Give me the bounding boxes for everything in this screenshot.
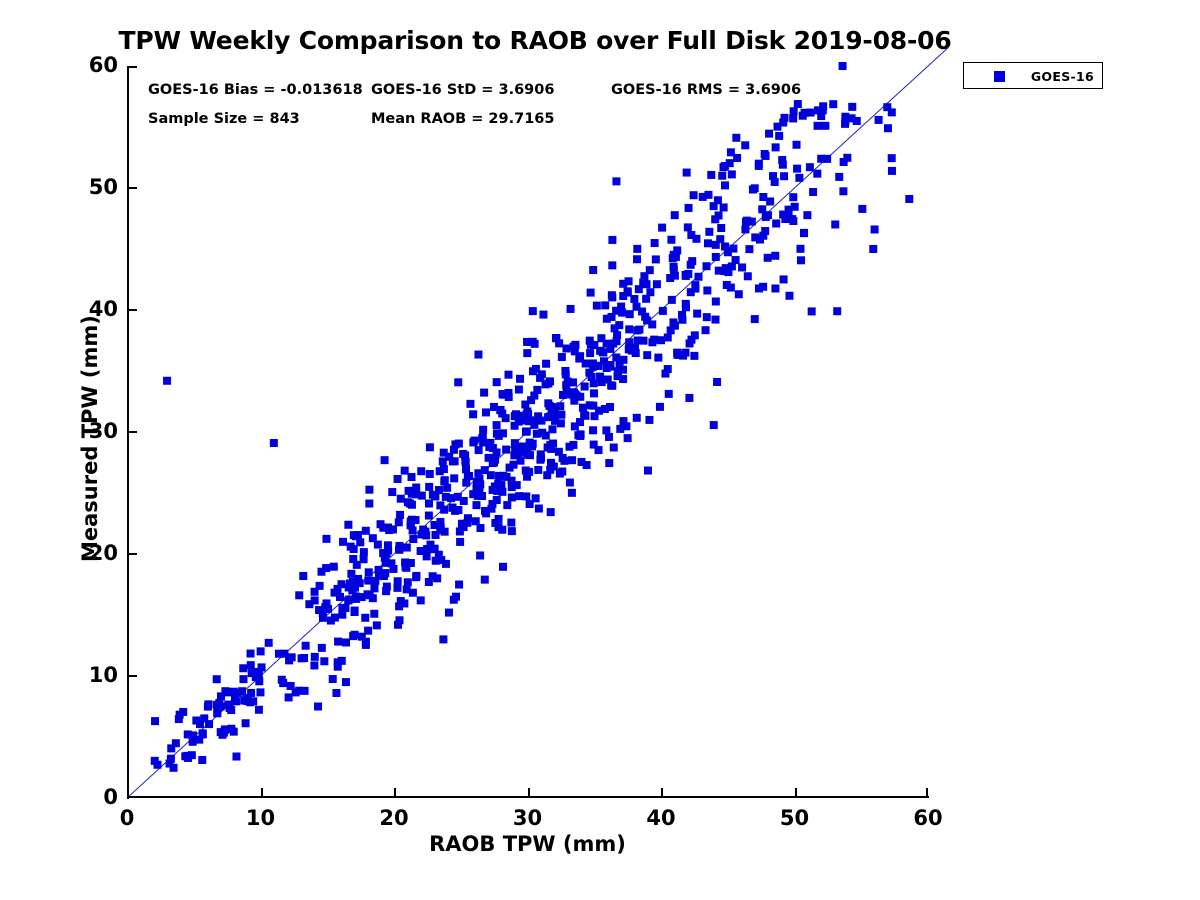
scatter-point [789,217,797,225]
scatter-point [575,355,583,363]
scatter-point [472,501,480,509]
scatter-point [626,310,634,318]
scatter-point [454,378,462,386]
scatter-point [421,528,429,536]
scatter-point [519,417,527,425]
scatter-point [589,426,597,434]
scatter-point [771,285,779,293]
scatter-point [673,246,681,254]
scatter-point [606,403,614,411]
y-tick-0 [127,796,137,798]
scatter-point [502,446,510,454]
scatter-point [745,245,753,253]
scatter-point [612,307,620,315]
scatter-point [394,577,402,585]
scatter-point [544,443,552,451]
legend-label: GOES-16 [1031,69,1094,84]
x-tick-label-40: 40 [631,806,691,830]
scatter-point [667,236,675,244]
x-tick-label-30: 30 [498,806,558,830]
scatter-point [404,498,412,506]
scatter-point [532,494,540,502]
scatter-point [775,132,783,140]
scatter-point [633,414,641,422]
y-tick-label-0: 0 [58,787,118,808]
scatter-point [381,456,389,464]
scatter-point [493,496,501,504]
scatter-point [654,354,662,362]
scatter-point [417,596,425,604]
scatter-point [659,307,667,315]
scatter-points-group [151,62,914,772]
scatter-point [780,172,788,180]
scatter-point [342,678,350,686]
scatter-point [733,154,741,162]
scatter-point [721,243,729,251]
scatter-point [608,261,616,269]
scatter-point [329,675,337,683]
scatter-point [475,484,483,492]
scatter-point [793,141,801,149]
scatter-point [619,417,627,425]
scatter-point [817,155,825,163]
scatter-point [431,492,439,500]
scatter-point [671,211,679,219]
scatter-point [364,590,372,598]
scatter-point [542,360,550,368]
y-tick-10 [127,675,137,677]
scatter-point [755,284,763,292]
scatter-point [394,621,402,629]
scatter-point [566,479,574,487]
scatter-point [648,338,656,346]
scatter-point [841,113,849,121]
scatter-point [591,412,599,420]
scatter-point [809,188,817,196]
scatter-point [538,429,546,437]
y-tick-label-10: 10 [58,665,118,686]
scatter-point [443,484,451,492]
scatter-point [599,348,607,356]
scatter-point [801,109,809,117]
scatter-point [642,280,650,288]
scatter-point [723,281,731,289]
scatter-point [396,511,404,519]
scatter-point [255,677,263,685]
scatter-point [780,275,788,283]
scatter-point [831,220,839,228]
scatter-point [568,489,576,497]
scatter-point [339,538,347,546]
scatter-point [704,239,712,247]
scatter-point [227,725,235,733]
scatter-point [513,481,521,489]
scatter-point [556,470,564,478]
scatter-point [694,273,702,281]
scatter-point [624,434,632,442]
scatter-plot-canvas [127,66,928,798]
scatter-point [576,418,584,426]
scatter-point [712,253,720,261]
scatter-point [451,507,459,515]
scatter-point [442,493,450,501]
scatter-point [721,181,729,189]
scatter-point [668,296,676,304]
scatter-point [383,583,391,591]
scatter-point [381,554,389,562]
scatter-point [499,429,507,437]
scatter-point [311,588,319,596]
scatter-point [188,751,196,759]
scatter-point [232,753,240,761]
scatter-point [653,280,661,288]
scatter-point [407,521,415,529]
scatter-point [755,160,763,168]
scatter-point [436,501,444,509]
scatter-point [602,426,610,434]
scatter-point [590,441,598,449]
scatter-point [732,134,740,142]
scatter-point [534,466,542,474]
scatter-point [741,141,749,149]
y-tick-40 [127,309,137,311]
scatter-point [722,264,730,272]
scatter-point [370,610,378,618]
scatter-point [496,406,504,414]
scatter-point [853,117,861,125]
scatter-point [685,204,693,212]
scatter-point [474,351,482,359]
scatter-point [408,490,416,498]
scatter-point [848,103,856,111]
scatter-point [751,315,759,323]
scatter-point [608,291,616,299]
scatter-point [640,272,648,280]
scatter-point [470,437,478,445]
scatter-point [375,566,383,574]
scatter-point [481,576,489,584]
scatter-point [417,467,425,475]
scatter-point [633,245,641,253]
scatter-point [772,143,780,151]
scatter-point [464,472,472,480]
y-tick-label-50: 50 [58,177,118,198]
scatter-point [735,290,743,298]
scatter-point [749,186,757,194]
scatter-point [523,451,531,459]
scatter-point [578,458,586,466]
scatter-point [619,292,627,300]
scatter-point [761,150,769,158]
scatter-point [456,528,464,536]
scatter-point [514,450,522,458]
scatter-point [479,426,487,434]
scatter-point [705,228,713,236]
scatter-point [332,689,340,697]
scatter-point [436,518,444,526]
scatter-point [703,286,711,294]
scatter-point [384,546,392,554]
y-tick-50 [127,187,137,189]
scatter-point [608,236,616,244]
scatter-point [495,472,503,480]
scatter-point [395,546,403,554]
scatter-point [179,708,187,716]
scatter-point [766,197,774,205]
scatter-point [425,500,433,508]
scatter-point [464,514,472,522]
scatter-point [691,285,699,293]
legend-box[interactable]: GOES-16 [963,62,1103,89]
scatter-point [331,614,339,622]
scatter-point [499,563,507,571]
scatter-point [498,488,506,496]
scatter-point [435,551,443,559]
scatter-point [625,325,633,333]
scatter-point [493,378,501,386]
scatter-point [764,254,772,262]
scatter-point [786,292,794,300]
scatter-point [794,100,802,108]
scatter-point [204,700,212,708]
x-tick-60 [926,788,928,798]
scatter-point [364,627,372,635]
scatter-point [418,492,426,500]
scatter-point [153,761,161,769]
scatter-point [432,531,440,539]
scatter-point [590,379,598,387]
scatter-point [226,704,234,712]
scatter-point [707,171,715,179]
scatter-point [423,552,431,560]
scatter-point [635,326,643,334]
scatter-point [613,331,621,339]
scatter-point [742,218,750,226]
y-tick-20 [127,553,137,555]
scatter-point [693,310,701,318]
scatter-point [682,272,690,280]
scatter-point [402,563,410,571]
scatter-point [247,650,255,658]
scatter-point [320,657,328,665]
scatter-point [803,211,811,219]
scatter-point [295,687,303,695]
x-tick-40 [661,788,663,798]
scatter-point [365,500,373,508]
scatter-point [833,307,841,315]
x-tick-20 [394,788,396,798]
scatter-point [349,555,357,563]
scatter-point [322,535,330,543]
scatter-point [738,263,746,271]
scatter-point [322,564,330,572]
scatter-point [561,367,569,375]
scatter-point [829,100,837,108]
scatter-point [404,578,412,586]
scatter-point [548,408,556,416]
scatter-point [635,285,643,293]
scatter-point [875,116,883,124]
scatter-point [703,313,711,321]
scatter-point [508,493,516,501]
scatter-point [425,578,433,586]
scatter-point [715,267,723,275]
scatter-point [555,339,563,347]
scatter-point [821,122,829,130]
scatter-point [300,654,308,662]
x-tick-label-20: 20 [364,806,424,830]
scatter-point [808,307,816,315]
scatter-point [491,519,499,527]
scatter-point [791,203,799,211]
scatter-point [716,235,724,243]
scatter-point [759,193,767,201]
scatter-point [643,351,651,359]
scatter-point [217,728,225,736]
scatter-point [426,443,434,451]
scatter-point [243,697,251,705]
scatter-point [674,351,682,359]
scatter-point [888,167,896,175]
scatter-point [641,313,649,321]
scatter-point [712,316,720,324]
scatter-point [612,354,620,362]
scatter-point [481,507,489,515]
scatter-point [287,682,295,690]
scatter-point [445,609,453,617]
scatter-point [690,352,698,360]
scatter-point [485,454,493,462]
scatter-point [394,475,402,483]
scatter-point [436,467,444,475]
scatter-point [726,159,734,167]
scatter-point [607,381,615,389]
scatter-point [213,675,221,683]
scatter-point [200,714,208,722]
scatter-point [839,187,847,195]
scatter-point [474,469,482,477]
scatter-point [426,470,434,478]
scatter-point [516,375,524,383]
scatter-point [614,372,622,380]
scatter-point [373,621,381,629]
scatter-point [580,411,588,419]
scatter-point [713,378,721,386]
scatter-point [365,568,373,576]
scatter-point [685,394,693,402]
scatter-point [633,303,641,311]
scatter-point [651,239,659,247]
scatter-point [400,599,408,607]
scatter-point [515,492,523,500]
scatter-point [527,396,535,404]
scatter-point [883,103,891,111]
scatter-point [221,687,229,695]
scatter-point [522,467,530,475]
x-tick-label-60: 60 [898,806,958,830]
scatter-point [352,592,360,600]
scatter-point [310,661,318,669]
scatter-point [605,459,613,467]
scatter-point [814,122,822,130]
scatter-point [528,442,536,450]
scatter-point [425,483,433,491]
scatter-point [548,425,556,433]
x-tick-label-50: 50 [765,806,825,830]
scatter-point [270,439,278,447]
scatter-point [311,653,319,661]
scatter-point [170,764,178,772]
scatter-point [409,589,417,597]
scatter-point [758,205,766,213]
scatter-point [586,401,594,409]
x-tick-10 [261,788,263,798]
scatter-point [539,311,547,319]
scatter-point [255,706,263,714]
scatter-point [163,377,171,385]
scatter-point [425,512,433,520]
scatter-point [412,572,420,580]
scatter-point [581,383,589,391]
scatter-point [566,443,574,451]
scatter-point [439,635,447,643]
scatter-point [460,497,468,505]
scatter-point [667,326,675,334]
scatter-point [562,345,570,353]
scatter-point [589,266,597,274]
scatter-point [671,272,679,280]
scatter-point [441,476,449,484]
scatter-point [475,446,483,454]
scatter-point [589,363,597,371]
scatter-point [625,345,633,353]
scatter-point [710,421,718,429]
scatter-point [189,731,197,739]
scatter-point [337,580,345,588]
scatter-point [334,638,342,646]
scatter-point [362,638,370,646]
scatter-point [519,443,527,451]
scatter-point [557,419,565,427]
scatter-point [356,579,364,587]
scatter-point [687,261,695,269]
scatter-point [744,272,752,280]
scatter-point [342,638,350,646]
scatter-point [377,520,385,528]
scatter-point [835,173,843,181]
scatter-point [593,302,601,310]
scatter-point [390,565,398,573]
scatter-point [884,124,892,132]
scatter-point [634,336,642,344]
scatter-point [523,349,531,357]
y-axis-title: Measured TPW (mm) [78,315,102,562]
scatter-point [397,495,405,503]
scatter-point [535,505,543,513]
scatter-point [569,378,577,386]
scatter-point [869,245,877,253]
scatter-point [728,170,736,178]
scatter-point [239,675,247,683]
scatter-point [351,631,359,639]
scatter-point [664,333,672,341]
scatter-point [479,434,487,442]
scatter-point [505,393,513,401]
scatter-point [151,717,159,725]
scatter-point [761,227,769,235]
scatter-point [765,130,773,138]
scatter-point [198,756,206,764]
